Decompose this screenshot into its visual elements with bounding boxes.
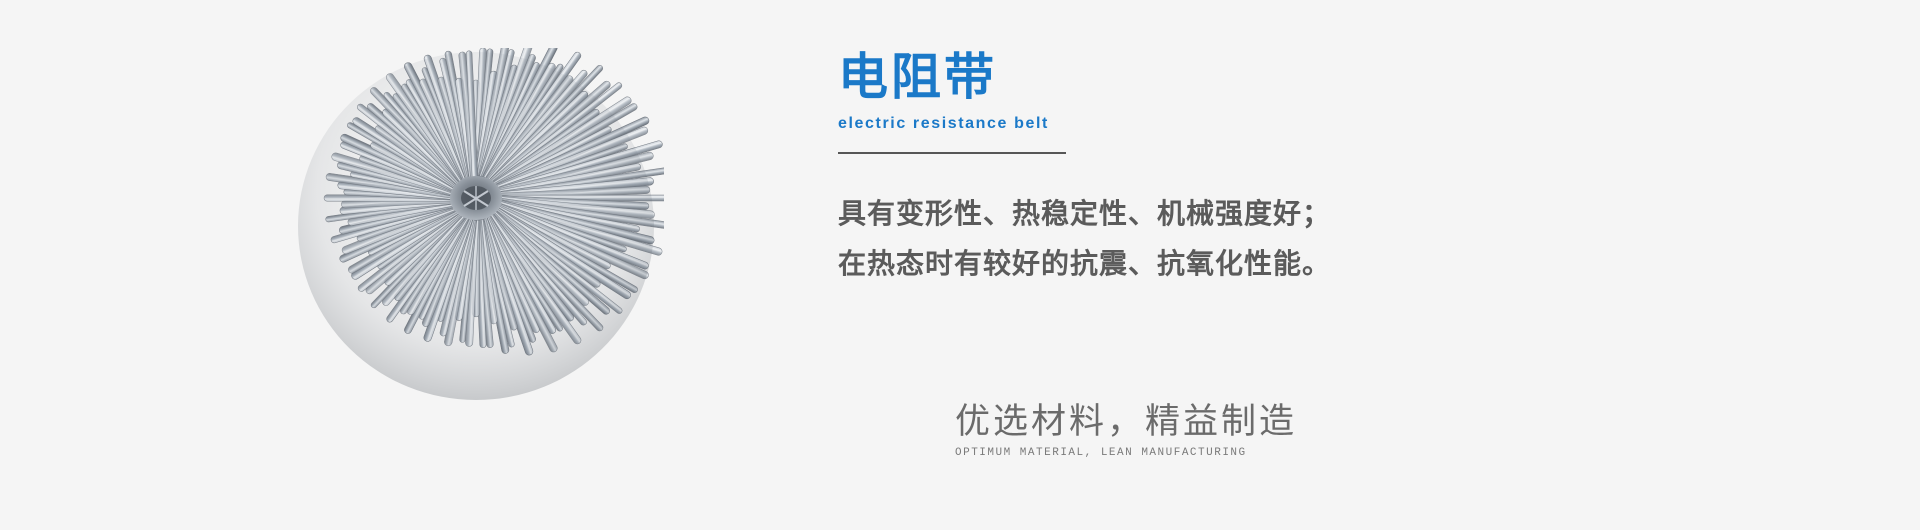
description-line: 具有变形性、热稳定性、机械强度好； — [838, 189, 1598, 239]
resistance-belt-coil-illustration — [288, 48, 664, 408]
product-banner: 电阻带 electric resistance belt 具有变形性、热稳定性、… — [0, 0, 1920, 530]
description-line: 在热态时有较好的抗震、抗氧化性能。 — [838, 239, 1598, 289]
page-subtitle: electric resistance belt — [838, 115, 1598, 133]
page-title: 电阻带 — [838, 52, 1598, 103]
slogan-english: OPTIMUM MATERIAL, LEAN MANUFACTURING — [955, 447, 1435, 459]
text-column: 电阻带 electric resistance belt 具有变形性、热稳定性、… — [838, 52, 1598, 289]
product-image — [288, 48, 664, 408]
description-block: 具有变形性、热稳定性、机械强度好； 在热态时有较好的抗震、抗氧化性能。 — [838, 189, 1598, 289]
slogan-chinese: 优选材料，精益制造 — [955, 400, 1435, 444]
title-divider — [838, 152, 1066, 154]
slogan-block: 优选材料，精益制造 OPTIMUM MATERIAL, LEAN MANUFAC… — [955, 400, 1435, 459]
